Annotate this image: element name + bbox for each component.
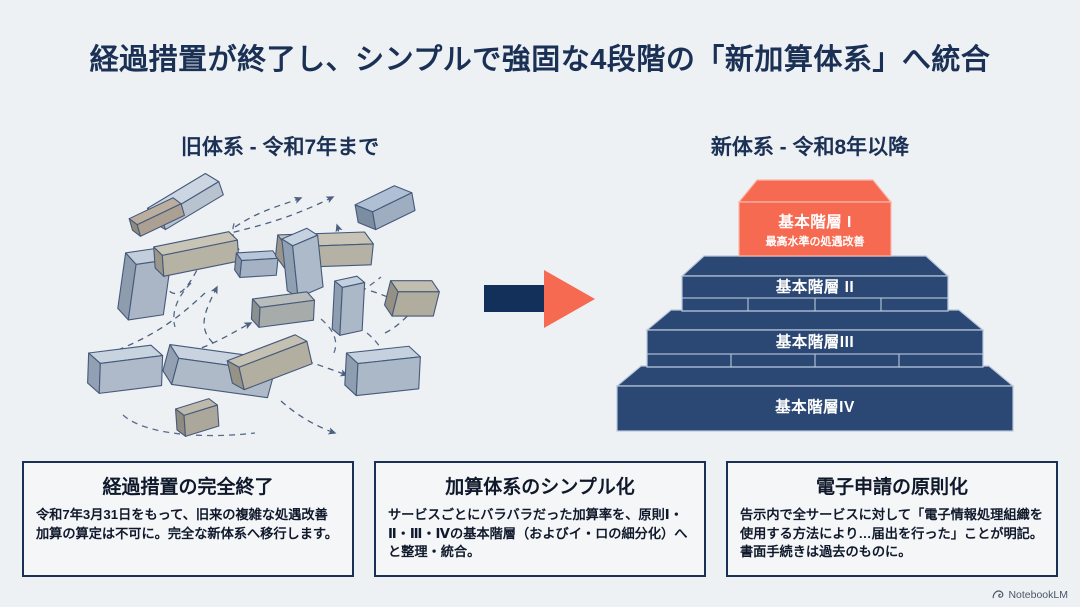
scattered-blocks-illustration (85, 165, 445, 440)
page-title: 経過措置が終了し、シンプルで強固な4段階の「新加算体系」へ統合 (0, 36, 1080, 78)
tier-pyramid: 基本階層 I 最高水準の処遇改善 基本階層 II 基本階層III 基本階層IV (600, 176, 1030, 438)
card-body: 令和7年3月31日をもって、旧来の複雑な処遇改善加算の算定は不可に。完全な新体系… (36, 506, 340, 543)
tier-1-label: 基本階層 I (777, 212, 852, 231)
tier-1-sublabel: 最高水準の処遇改善 (766, 234, 865, 248)
notebooklm-icon (992, 589, 1004, 601)
transition-arrow (482, 268, 600, 330)
info-card-e-application: 電子申請の原則化 告示内で全サービスに対して「電子情報処理組織を使用する方法によ… (726, 461, 1058, 577)
card-title: 経過措置の完全終了 (36, 472, 340, 499)
tier-4-label: 基本階層IV (774, 397, 855, 416)
tier-2-label: 基本階層 II (775, 277, 854, 296)
card-body: サービスごとにバラバラだった加算率を、原則Ⅰ・Ⅱ・Ⅲ・Ⅳの基本階層（およびイ・ロ… (388, 506, 692, 562)
notebooklm-watermark: NotebookLM (992, 589, 1068, 601)
card-title: 電子申請の原則化 (740, 472, 1044, 499)
info-card-simplification: 加算体系のシンプル化 サービスごとにバラバラだった加算率を、原則Ⅰ・Ⅱ・Ⅲ・Ⅳの… (374, 461, 706, 577)
tier-3-label: 基本階層III (775, 332, 854, 351)
old-system-heading: 旧体系 - 令和7年まで (100, 131, 460, 161)
info-card-transition-end: 経過措置の完全終了 令和7年3月31日をもって、旧来の複雑な処遇改善加算の算定は… (22, 461, 354, 577)
notebooklm-label: NotebookLM (1008, 589, 1068, 601)
card-body: 告示内で全サービスに対して「電子情報処理組織を使用する方法により…届出を行った」… (740, 506, 1044, 562)
new-system-heading: 新体系 - 令和8年以降 (620, 131, 1000, 161)
card-title: 加算体系のシンプル化 (388, 472, 692, 499)
